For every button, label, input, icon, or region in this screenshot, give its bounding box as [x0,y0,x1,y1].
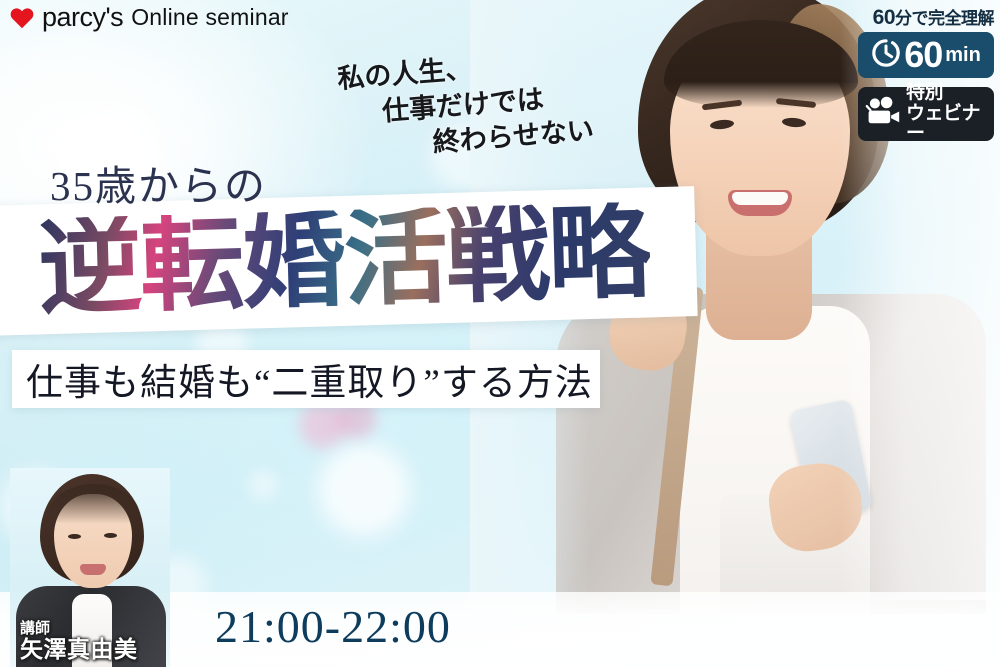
webinar-line-1: 特別 [906,83,987,104]
speaker-card: 講師 矢澤真由美 [10,468,170,667]
duration-caption: 60分で完全理解 [858,4,994,30]
webinar-badge: 特別 ウェビナー [858,87,994,141]
duration-caption-number: 60 [873,6,895,29]
headline-kicker: 35歳からの [50,152,267,212]
webinar-badge-text: 特別 ウェビナー [906,83,987,145]
duration-unit: min [945,45,981,65]
badge-group: 60分で完全理解 60 min [858,4,994,141]
brand-name: parcy's [42,2,123,33]
speaker-eye [104,533,117,538]
duration-caption-rest: 分で完全理解 [895,9,994,28]
speaker-role: 講師 [20,621,138,637]
bokeh-light [248,470,278,500]
clock-icon [871,38,901,73]
seminar-banner: parcy's Online seminar 私の人生、 仕事だけでは 終わらせ… [0,0,1000,667]
speaker-label: 講師 矢澤真由美 [20,621,138,661]
subtitle-text: 仕事も結婚も“二重取り”する方法 [26,352,606,406]
heart-icon [10,7,34,29]
bokeh-light [318,444,410,536]
brand-logo: parcy's Online seminar [10,2,289,33]
title-text: 逆転婚活戦略 [37,201,652,322]
webinar-line-2: ウェビナー [906,104,987,145]
duration-badge: 60 min [858,32,994,78]
video-camera-icon [865,96,901,132]
duration-value: 60 [904,37,942,73]
seminar-time: 21:00-22:00 [215,600,451,653]
speaker-name: 矢澤真由美 [20,637,138,661]
handwritten-note: 私の人生、 仕事だけでは 終わらせない [336,42,595,168]
speaker-mouth [80,564,106,575]
brand-tagline: Online seminar [131,4,288,31]
speaker-eye [68,534,81,539]
